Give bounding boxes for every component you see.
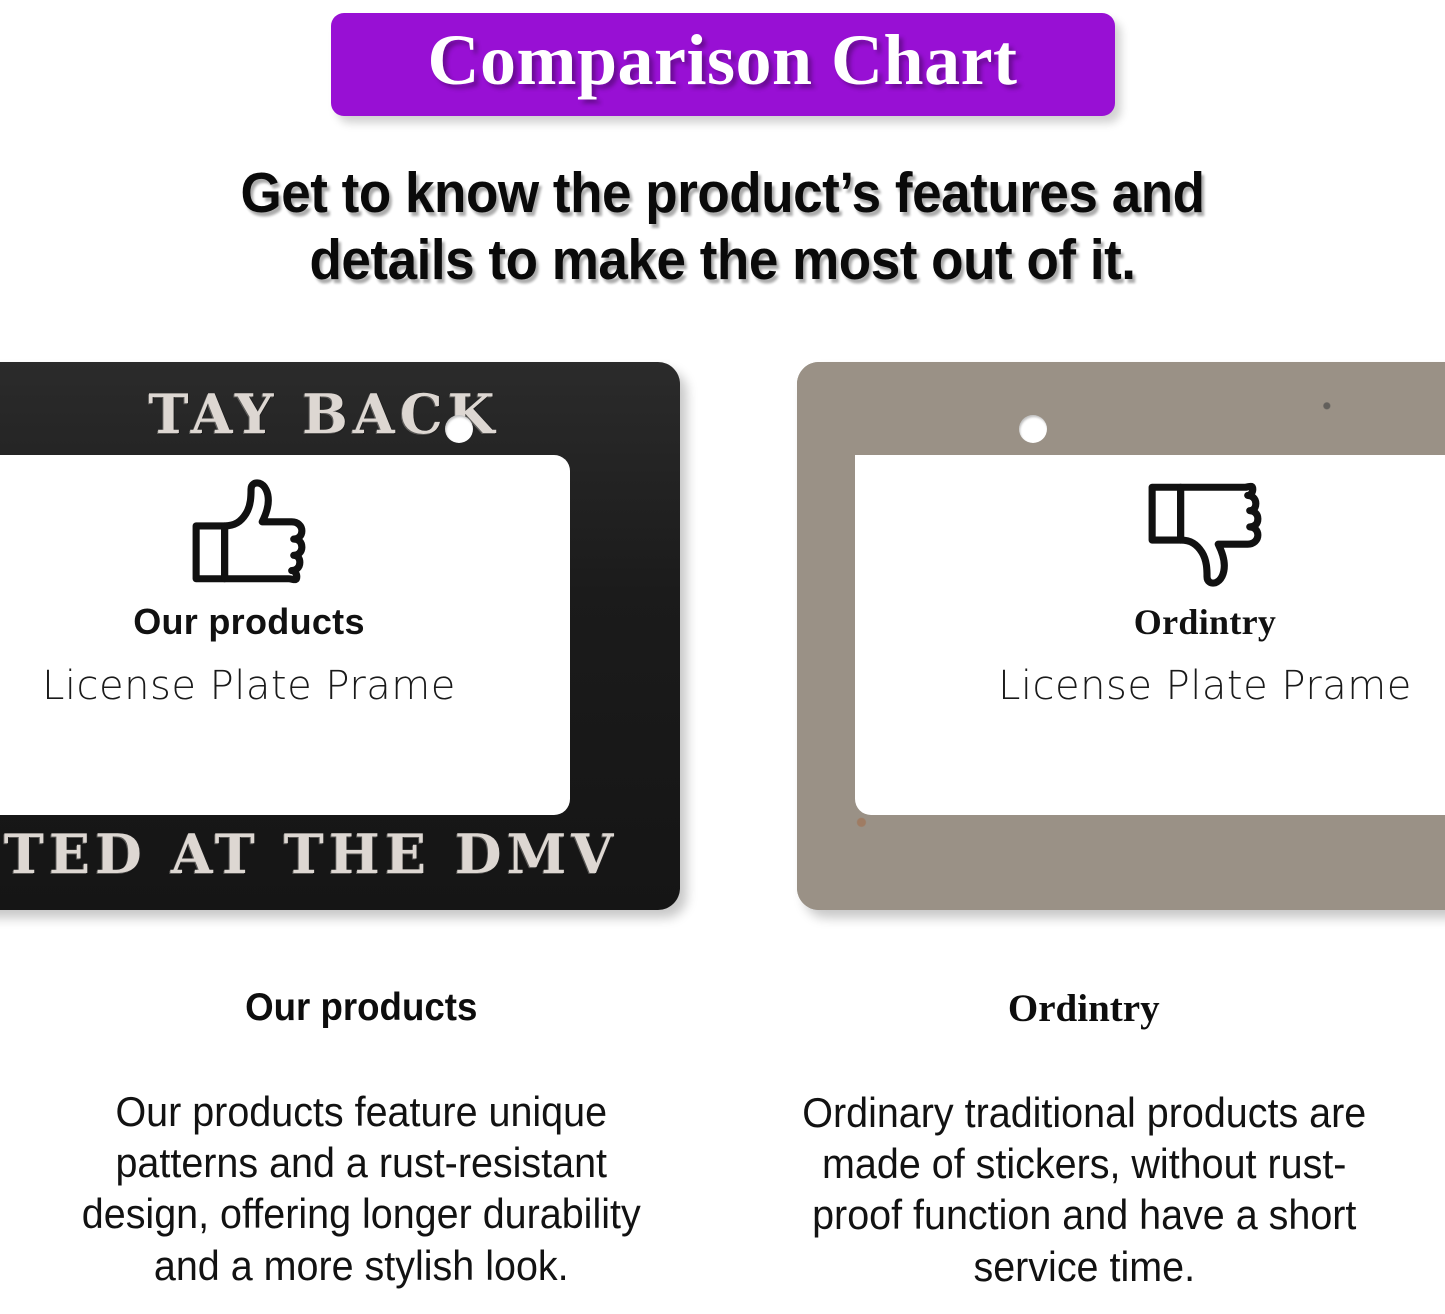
ordinary-product-description: Ordinary traditional products are made o… — [780, 1087, 1388, 1292]
product-line-right: License Plate Prame — [998, 663, 1412, 709]
plate-window-left: Our products License Plate Prame — [0, 455, 570, 815]
ordinary-product-column: Ordintry Ordinary traditional products a… — [723, 986, 1445, 1292]
brand-label-right: Ordintry — [1134, 601, 1276, 643]
subtitle-line-2: details to make the most out of it. — [134, 227, 1310, 294]
our-product-description: Our products feature unique patterns and… — [57, 1086, 665, 1291]
product-frames-row: TAY BACK TED AT THE DMV Our products Lic… — [0, 362, 1445, 910]
ordinary-product-heading: Ordintry — [761, 986, 1408, 1031]
ordinary-product-frame: Ordintry License Plate Prame — [797, 362, 1445, 910]
our-product-frame: TAY BACK TED AT THE DMV Our products Lic… — [0, 362, 680, 910]
plate-window-right: Ordintry License Plate Prame — [855, 455, 1445, 815]
plate-bottom-text: TED AT THE DMV — [0, 822, 680, 886]
banner-title: Comparison Chart — [373, 19, 1073, 102]
product-line-left: License Plate Prame — [42, 663, 456, 709]
thumbs-down-icon — [1144, 479, 1266, 587]
our-product-column: Our products Our products feature unique… — [0, 986, 723, 1292]
plate-content-right: Ordintry License Plate Prame — [855, 455, 1445, 815]
comparison-description-row: Our products Our products feature unique… — [0, 986, 1445, 1292]
subtitle-line-1: Get to know the product’s features and — [134, 160, 1310, 227]
brand-label-left: Our products — [133, 601, 365, 643]
title-banner-wrapper: Comparison Chart — [0, 13, 1445, 116]
thumbs-up-icon — [188, 479, 310, 587]
title-banner: Comparison Chart — [331, 13, 1115, 116]
mounting-hole-icon — [1019, 415, 1047, 443]
subtitle: Get to know the product’s features and d… — [51, 160, 1395, 293]
mounting-hole-icon — [445, 415, 473, 443]
our-product-heading: Our products — [57, 986, 665, 1030]
plate-content-left: Our products License Plate Prame — [0, 455, 570, 815]
plate-top-text: TAY BACK — [0, 382, 680, 446]
